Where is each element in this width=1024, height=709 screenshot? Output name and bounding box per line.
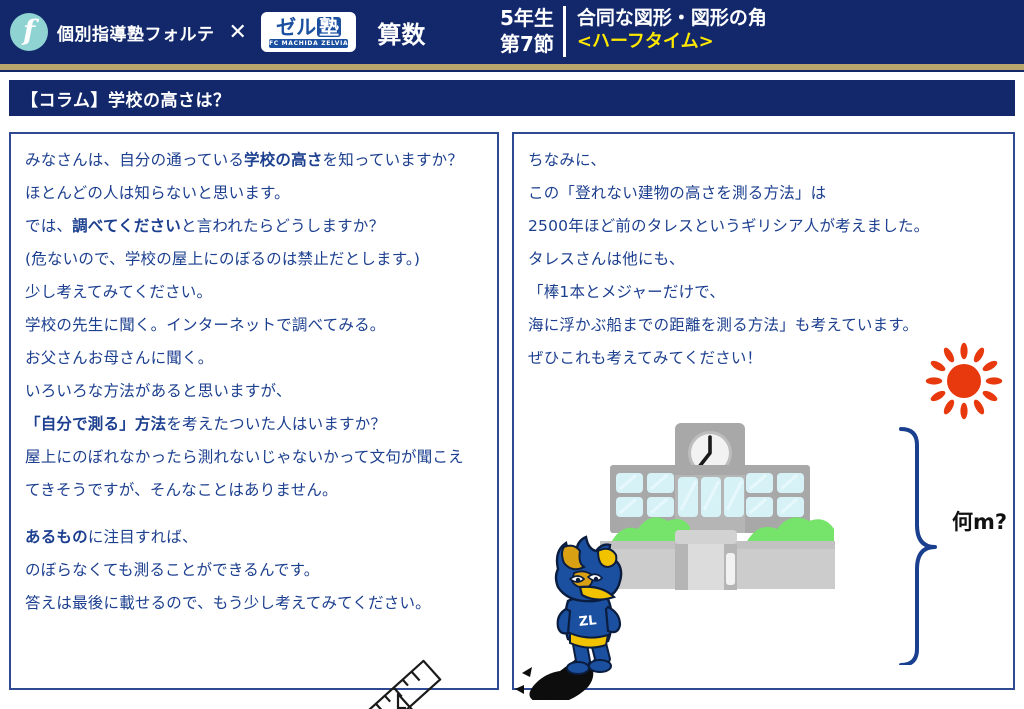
plain-text: を考えたついた人はいますか？ <box>166 415 386 433</box>
emphasis-text: 調べてください <box>72 217 181 235</box>
emphasis-text: あるもの <box>25 528 88 546</box>
plain-text: みなさんは、自分の通っている <box>25 151 244 169</box>
text-line: 2500年ほど前のタレスというギリシア人が考えました。 <box>528 210 1008 243</box>
plain-text: 海に浮かぶ船までの距離を測る方法」も考えています。 <box>528 316 918 334</box>
text-line: この「登れない建物の高さを測る方法」は <box>528 177 1008 210</box>
entrance-door-glass <box>726 553 735 585</box>
text-line: では、調べてくださいと言われたらどうしますか？ <box>25 210 491 243</box>
plain-text: ぜひこれも考えてみてください！ <box>528 349 762 367</box>
plain-text: タレスさんは他にも、 <box>528 250 685 268</box>
ruler-set-square-svg <box>333 656 493 709</box>
height-brace <box>895 425 943 669</box>
emphasis-text: 「自分で測る」方法 <box>25 415 166 433</box>
grade-section-column: 5年生 第7節 <box>500 6 566 57</box>
gold-divider-bar <box>0 64 1024 72</box>
lesson-identifier: 5年生 第7節 合同な図形・図形の角 <ハーフタイム> <box>500 6 767 57</box>
cross-icon: ✕ <box>229 20 247 45</box>
zelvia-logo-juku: 塾 <box>317 17 341 37</box>
paragraph-spacer <box>25 507 491 521</box>
ruler-icon <box>349 661 440 709</box>
school-building-svg <box>600 415 920 670</box>
text-line: ほとんどの人は知らないと思います。 <box>25 177 491 210</box>
plain-text: を知っていますか？ <box>323 151 464 169</box>
plain-text: 「棒1本とメジャーだけで、 <box>528 283 725 301</box>
text-line: タレスさんは他にも、 <box>528 243 1008 276</box>
plain-text: お父さんお母さんに聞く。 <box>25 349 213 367</box>
ruler-and-set-square-illustration <box>333 656 493 709</box>
plain-text: てきそうですが、そんなことはありません。 <box>25 481 338 499</box>
text-line: 海に浮かぶ船までの距離を測る方法」も考えています。 <box>528 309 1008 342</box>
section-label: 第7節 <box>500 32 554 58</box>
plain-text: 屋上にのぼれなかったら測れないじゃないかって文句が聞こえ <box>25 448 464 466</box>
column-title-bar: 【コラム】学校の高さは？ <box>9 80 1015 116</box>
zelvia-mascot-bird: ZL <box>512 535 642 704</box>
emphasis-text: 学校の高さ <box>244 151 323 169</box>
topic-column: 合同な図形・図形の角 <ハーフタイム> <box>566 6 767 57</box>
plain-text: 学校の先生に聞く。インターネットで調べてみる。 <box>25 316 385 334</box>
plain-text: のぼらなくても測ることができるんです。 <box>25 561 319 579</box>
mascot-crest-right <box>598 549 616 567</box>
page-header: f 個別指導塾フォルテ ✕ ゼル 塾 FC MACHIDA ZELVIA 算数 … <box>0 0 1024 64</box>
plain-text: ちなみに、 <box>528 151 606 169</box>
slide-page: f 個別指導塾フォルテ ✕ ゼル 塾 FC MACHIDA ZELVIA 算数 … <box>0 0 1024 709</box>
text-line: てきそうですが、そんなことはありません。 <box>25 474 491 507</box>
entrance-pillar <box>688 544 724 590</box>
text-line: お父さんお母さんに聞く。 <box>25 342 491 375</box>
text-line: (危ないので、学校の屋上にのぼるのは禁止だとします。) <box>25 243 491 276</box>
plain-text: いろいろな方法があると思いますが、 <box>25 382 292 400</box>
text-line: みなさんは、自分の通っている学校の高さを知っていますか？ <box>25 144 491 177</box>
topic-subtitle: <ハーフタイム> <box>577 30 767 53</box>
left-panel-body-text: みなさんは、自分の通っている学校の高さを知っていますか？ほとんどの人は知らないと… <box>25 144 491 620</box>
mascot-chest-text: ZL <box>578 613 597 630</box>
text-line: ちなみに、 <box>528 144 1008 177</box>
forte-brand-name: 個別指導塾フォルテ <box>57 20 215 45</box>
sun-icon <box>925 342 1003 424</box>
set-square-icon <box>398 694 461 709</box>
zelvia-logo-kana: ゼル <box>276 17 316 37</box>
text-line: 「自分で測る」方法を考えたついた人はいますか？ <box>25 408 491 441</box>
left-text-panel: みなさんは、自分の通っている学校の高さを知っていますか？ほとんどの人は知らないと… <box>9 132 499 690</box>
zelvia-logo: ゼル 塾 FC MACHIDA ZELVIA <box>261 12 356 52</box>
sun-svg <box>925 342 1003 420</box>
subject-label: 算数 <box>377 15 425 50</box>
forte-logo-icon: f <box>10 13 48 51</box>
height-brace-svg <box>895 425 943 665</box>
mascot-svg: ZL <box>512 535 642 700</box>
plain-text: 答えは最後に載せるので、もう少し考えてみてください。 <box>25 594 431 612</box>
plain-text: に注目すれば、 <box>88 528 198 546</box>
entrance-canopy <box>675 530 737 544</box>
text-line: あるものに注目すれば、 <box>25 521 491 554</box>
text-line: 屋上にのぼれなかったら測れないじゃないかって文句が聞こえ <box>25 441 491 474</box>
zelvia-logo-subtitle: FC MACHIDA ZELVIA <box>269 39 348 48</box>
plain-text: (危ないので、学校の屋上にのぼるのは禁止だとします。) <box>25 250 420 268</box>
right-panel-body-text: ちなみに、この「登れない建物の高さを測る方法」は2500年ほど前のタレスというギ… <box>528 144 1008 375</box>
text-line: 少し考えてみてください。 <box>25 276 491 309</box>
text-line: のぼらなくても測ることができるんです。 <box>25 554 491 587</box>
plain-text: と言われたらどうしますか？ <box>181 217 384 235</box>
text-line: 「棒1本とメジャーだけで、 <box>528 276 1008 309</box>
height-question-label: 何m? <box>952 506 1007 536</box>
grade-label: 5年生 <box>500 6 554 32</box>
plain-text: 少し考えてみてください。 <box>25 283 212 301</box>
brand-lockup: f 個別指導塾フォルテ ✕ ゼル 塾 FC MACHIDA ZELVIA 算数 <box>10 12 425 52</box>
forte-logo-letter: f <box>23 17 35 45</box>
column-title-text: 【コラム】学校の高さは？ <box>10 86 231 111</box>
mascot-arm-right <box>606 607 620 632</box>
plain-text: ほとんどの人は知らないと思います。 <box>25 184 290 202</box>
plain-text: では、 <box>25 217 72 235</box>
plain-text: この「登れない建物の高さを測る方法」は <box>528 184 826 202</box>
plain-text: 2500年ほど前のタレスというギリシア人が考えました。 <box>528 217 929 235</box>
text-line: いろいろな方法があると思いますが、 <box>25 375 491 408</box>
school-building-illustration <box>600 415 920 674</box>
mascot-arm-left <box>558 609 570 633</box>
text-line: 答えは最後に載せるので、もう少し考えてみてください。 <box>25 587 491 620</box>
topic-title: 合同な図形・図形の角 <box>577 6 767 30</box>
zelvia-logo-top: ゼル 塾 <box>276 17 341 37</box>
text-line: 学校の先生に聞く。インターネットで調べてみる。 <box>25 309 491 342</box>
